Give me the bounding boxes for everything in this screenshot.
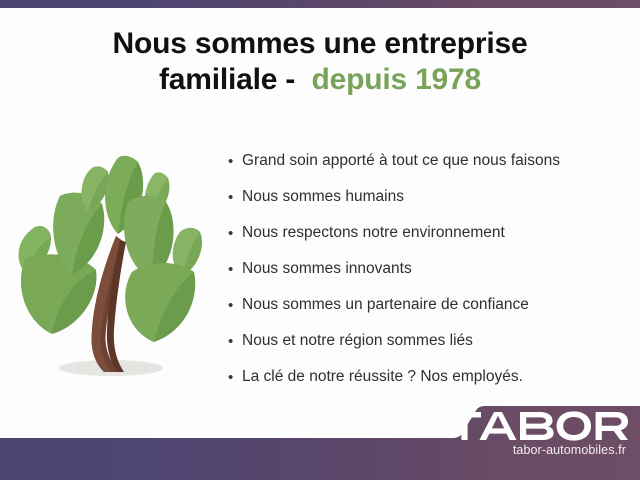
tabor-wordmark: [448, 411, 628, 441]
list-item: • Nous sommes innovants: [228, 258, 628, 294]
bullet-icon: •: [228, 186, 242, 209]
list-item: • Nous sommes un partenaire de confiance: [228, 294, 628, 330]
slide-canvas: Nous sommes une entreprise familiale - d…: [0, 0, 640, 480]
tree-trunk: [92, 236, 127, 372]
bullet-icon: •: [228, 150, 242, 173]
brand-url[interactable]: tabor-automobiles.fr: [448, 442, 628, 458]
list-item: • Grand soin apporté à tout ce que nous …: [228, 150, 628, 186]
list-item-label: Nous et notre région sommes liés: [242, 330, 473, 352]
headline-line-2: familiale - depuis 1978: [40, 62, 600, 98]
headline-dash-glyph: -: [285, 63, 295, 96]
bullet-icon: •: [228, 258, 242, 281]
tree-leaves-left: [19, 193, 105, 334]
headline-prefix: familiale: [159, 63, 277, 96]
list-item-label: Nous sommes innovants: [242, 258, 412, 280]
bullet-icon: •: [228, 330, 242, 353]
bullet-icon: •: [228, 294, 242, 317]
list-item: • Nous et notre région sommes liés: [228, 330, 628, 366]
list-item-label: Nous sommes humains: [242, 186, 404, 208]
bullet-icon: •: [228, 222, 242, 245]
values-list: • Grand soin apporté à tout ce que nous …: [228, 150, 628, 402]
page-title: Nous sommes une entreprise familiale - d…: [40, 26, 600, 98]
list-item-label: Nous sommes un partenaire de confiance: [242, 294, 529, 316]
headline-spacer: [295, 63, 311, 96]
list-item: • Nous respectons notre environnement: [228, 222, 628, 258]
list-item-label: La clé de notre réussite ? Nos employés.: [242, 366, 523, 388]
tree-illustration: [8, 150, 213, 395]
list-item: • Nous sommes humains: [228, 186, 628, 222]
bullet-icon: •: [228, 366, 242, 389]
headline-highlight: depuis 1978: [311, 63, 481, 96]
list-item-label: Nous respectons notre environnement: [242, 222, 505, 244]
list-item-label: Grand soin apporté à tout ce que nous fa…: [242, 150, 560, 172]
list-item: • La clé de notre réussite ? Nos employé…: [228, 366, 628, 402]
top-accent-strip: [0, 0, 640, 8]
tree-leaves-right: [124, 196, 202, 342]
headline-line-1: Nous sommes une entreprise: [40, 26, 600, 62]
brand-logo[interactable]: tabor-automobiles.fr: [448, 411, 628, 458]
